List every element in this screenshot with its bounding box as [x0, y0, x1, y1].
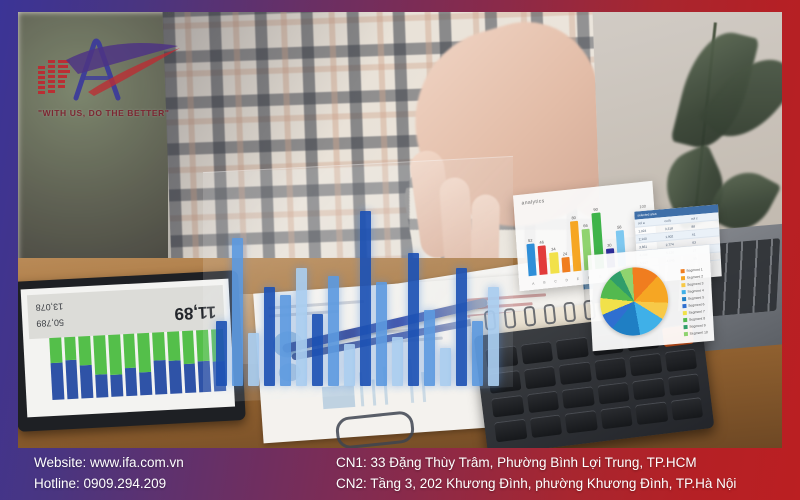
pie-chart	[598, 265, 669, 339]
tablet-bar-segment	[80, 365, 93, 398]
table-column-header: col c	[691, 214, 716, 220]
legend-label: Segment 8	[689, 316, 706, 321]
colorful-bar-chart-title: analytics	[521, 198, 544, 206]
bar-value-label: 58	[617, 224, 622, 229]
calculator-key	[597, 381, 630, 404]
bar-value-label: 30	[607, 243, 612, 248]
tablet-kpi-2: 13,078	[35, 301, 63, 312]
pie-legend-item: Segment 10	[684, 330, 708, 336]
legend-swatch	[681, 290, 685, 294]
tablet-bar-segment	[65, 360, 79, 400]
legend-swatch	[681, 276, 685, 280]
table-column-header: col b	[664, 216, 689, 222]
legend-label: Segment 3	[687, 281, 704, 286]
holo-bar	[392, 337, 403, 386]
holo-bar	[280, 295, 291, 386]
promo-banner: 2021 2020 11,89 50,789 13,078	[0, 0, 800, 500]
holo-bar	[440, 348, 451, 386]
legend-swatch	[681, 283, 685, 287]
table-cell: 3,318	[665, 224, 690, 230]
holo-bar	[248, 333, 259, 386]
holo-bar	[216, 321, 227, 386]
tablet-device: 2021 2020 11,89 50,789 13,078	[18, 270, 246, 432]
legend-label: Segment 6	[688, 302, 705, 307]
tablet-bar-segment	[184, 364, 197, 393]
tablet-bar-segment	[140, 371, 153, 395]
tablet-bar-segment	[154, 360, 168, 395]
footer-website[interactable]: Website: www.ifa.com.vn	[34, 452, 184, 473]
table-cell: 1,024	[638, 227, 663, 233]
legend-label: Segment 2	[687, 274, 704, 279]
pie-legend-item: Segment 2	[681, 274, 705, 280]
pie-legend-item: Segment 6	[682, 302, 706, 308]
card-bar: 46	[538, 246, 548, 275]
legend-label: Segment 9	[689, 323, 706, 328]
photo-area: 2021 2020 11,89 50,789 13,078	[18, 12, 782, 448]
footer-bar: Website: www.ifa.com.vn Hotline: 0909.29…	[0, 444, 800, 500]
calculator-key	[559, 361, 592, 384]
calculator-key	[494, 419, 527, 442]
legend-label: Segment 1	[686, 267, 703, 272]
holo-bar	[488, 287, 499, 386]
footer-branch-1: CN1: 33 Đặng Thùy Trâm, Phường Bình Lợi …	[336, 452, 736, 473]
tablet-bar-segment	[95, 374, 108, 398]
bar-value-label: 66	[583, 223, 588, 228]
axis-category-label: C	[551, 279, 559, 284]
calculator-key	[520, 341, 553, 364]
calculator-key	[629, 353, 662, 376]
pie-legend-item: Segment 7	[682, 309, 706, 315]
holo-bar	[296, 268, 307, 386]
axis-category-label: E	[574, 277, 582, 282]
pie-chart-legend: Segment 1Segment 2Segment 3Segment 4Segm…	[680, 267, 708, 336]
legend-label: Segment 4	[687, 288, 704, 293]
calculator-key	[565, 410, 598, 433]
legend-swatch	[683, 325, 687, 329]
calculator-key	[556, 337, 589, 360]
legend-label: Segment 5	[688, 295, 705, 300]
calculator-key	[523, 366, 556, 389]
legend-swatch	[680, 269, 684, 273]
holo-bar	[424, 310, 435, 386]
calculator-key	[635, 402, 668, 425]
calculator-key	[529, 415, 562, 438]
tablet-bar-segment	[198, 361, 211, 393]
legend-swatch	[684, 332, 688, 336]
calculator-key	[670, 397, 703, 420]
bar-value-label: 52	[528, 237, 533, 242]
holo-bar	[328, 276, 339, 386]
calculator-key	[632, 377, 665, 400]
holo-bar	[264, 287, 275, 386]
tablet-bar-segment	[169, 361, 182, 394]
registered-trademark-icon: ®	[166, 12, 173, 18]
holo-bar	[312, 314, 323, 386]
footer-branch-2: CN2: Tầng 3, 202 Khương Đình, phường Khư…	[336, 473, 736, 494]
holographic-bar-chart	[216, 196, 508, 386]
tablet-bar-segment	[51, 362, 65, 400]
table-cell: 2,140	[639, 235, 664, 241]
legend-swatch	[683, 318, 687, 322]
card-bar: 24	[561, 257, 570, 273]
holo-bar	[376, 282, 387, 387]
axis-tick: 100	[639, 204, 646, 210]
footer-address-group: CN1: 33 Đặng Thùy Trâm, Phường Bình Lợi …	[336, 452, 736, 494]
card-bar: 80	[570, 221, 582, 271]
pie-legend-item: Segment 9	[683, 323, 707, 329]
bar-value-label: 46	[539, 240, 544, 245]
pie-legend-item: Segment 5	[682, 295, 706, 301]
calculator-key	[562, 386, 595, 409]
calculator-key	[667, 373, 700, 396]
calculator-key	[664, 348, 697, 371]
holo-bar	[472, 321, 483, 386]
bar-value-label: 24	[563, 251, 568, 256]
table-column-header: col a	[638, 219, 663, 225]
holo-bar	[408, 253, 419, 386]
ifa-logo-mark	[32, 30, 192, 106]
calculator-key	[600, 406, 633, 429]
legend-label: Segment 10	[690, 330, 708, 336]
pie-legend-item: Segment 8	[683, 316, 707, 322]
holo-bar	[232, 238, 243, 386]
tablet-kpi-1: 50,789	[36, 317, 64, 328]
pie-legend-item: Segment 1	[680, 267, 704, 273]
logo-tagline: "WITH US, DO THE BETTER"	[38, 108, 170, 118]
table-cell: 88	[691, 222, 716, 228]
card-bar: 52	[526, 243, 536, 276]
tablet-bar-segment	[125, 367, 138, 396]
holo-bar	[344, 344, 355, 386]
table-cell: 63	[692, 238, 717, 244]
holo-bar	[456, 268, 467, 386]
bar-value-label: 34	[551, 246, 556, 251]
card-bar: 34	[550, 252, 560, 274]
axis-category-label: A	[529, 281, 537, 286]
bar-value-label: 80	[571, 215, 576, 220]
axis-category-label: B	[540, 280, 548, 285]
legend-swatch	[682, 304, 686, 308]
tablet-screen: 2021 2020 11,89 50,789 13,078	[21, 279, 235, 418]
calculator-key	[491, 394, 524, 417]
table-cell: 1,902	[665, 232, 690, 238]
table-cell: 41	[692, 230, 717, 236]
holo-bar	[360, 211, 371, 386]
axis-category-label: D	[563, 278, 571, 283]
pie-chart-card: Segment 1Segment 2Segment 3Segment 4Segm…	[588, 245, 715, 352]
ifa-logo: "WITH US, DO THE BETTER"	[32, 30, 192, 118]
pie-legend-item: Segment 4	[681, 288, 705, 294]
legend-swatch	[682, 311, 686, 315]
footer-hotline[interactable]: Hotline: 0909.294.209	[34, 473, 184, 494]
calculator-key	[594, 357, 627, 380]
calculator-key	[526, 390, 559, 413]
bar-value-label: 90	[593, 207, 598, 212]
legend-swatch	[682, 297, 686, 301]
footer-contact-group: Website: www.ifa.com.vn Hotline: 0909.29…	[34, 452, 184, 494]
legend-label: Segment 7	[688, 309, 705, 314]
tablet-bar-segment	[110, 375, 123, 397]
tablet-big-number: 11,89	[174, 301, 217, 323]
pie-legend-item: Segment 3	[681, 281, 705, 287]
